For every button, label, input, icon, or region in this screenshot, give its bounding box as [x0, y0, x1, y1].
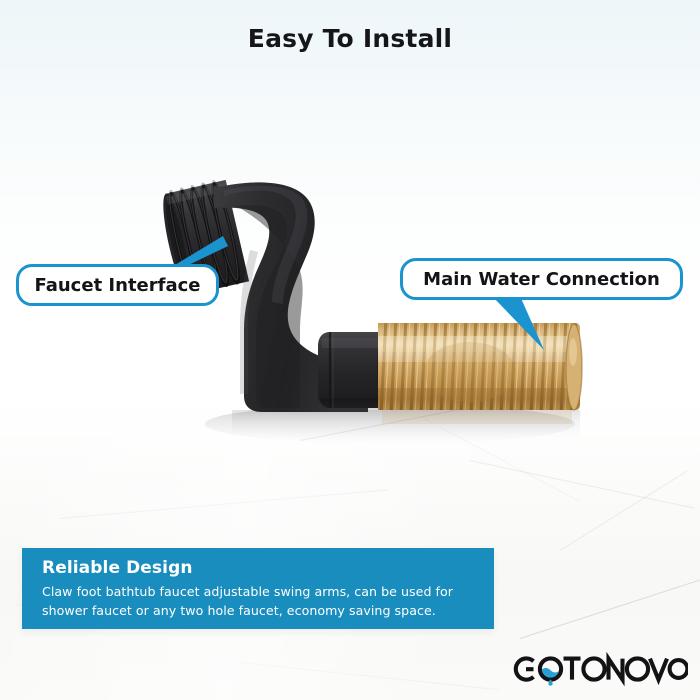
- callout-faucet-interface[interactable]: Faucet Interface: [16, 264, 219, 306]
- pointer-main-water-connection: [492, 296, 562, 352]
- page-title: Easy To Install: [0, 24, 700, 53]
- callout-faucet-interface-label: Faucet Interface: [34, 275, 200, 296]
- banner-heading: Reliable Design: [42, 557, 477, 579]
- gotonovo-logo: [510, 652, 688, 688]
- background-gradient-top: [0, 0, 700, 430]
- callout-main-water-connection-label: Main Water Connection: [423, 269, 660, 290]
- reliable-design-banner: Reliable Design Claw foot bathtub faucet…: [22, 548, 494, 629]
- product-marketing-image: Easy To Install: [0, 0, 700, 700]
- banner-body-line-2: shower faucet or any two hole faucet, ec…: [42, 601, 477, 620]
- callout-main-water-connection[interactable]: Main Water Connection: [400, 258, 683, 300]
- banner-body-line-1: Claw foot bathtub faucet adjustable swin…: [42, 582, 477, 601]
